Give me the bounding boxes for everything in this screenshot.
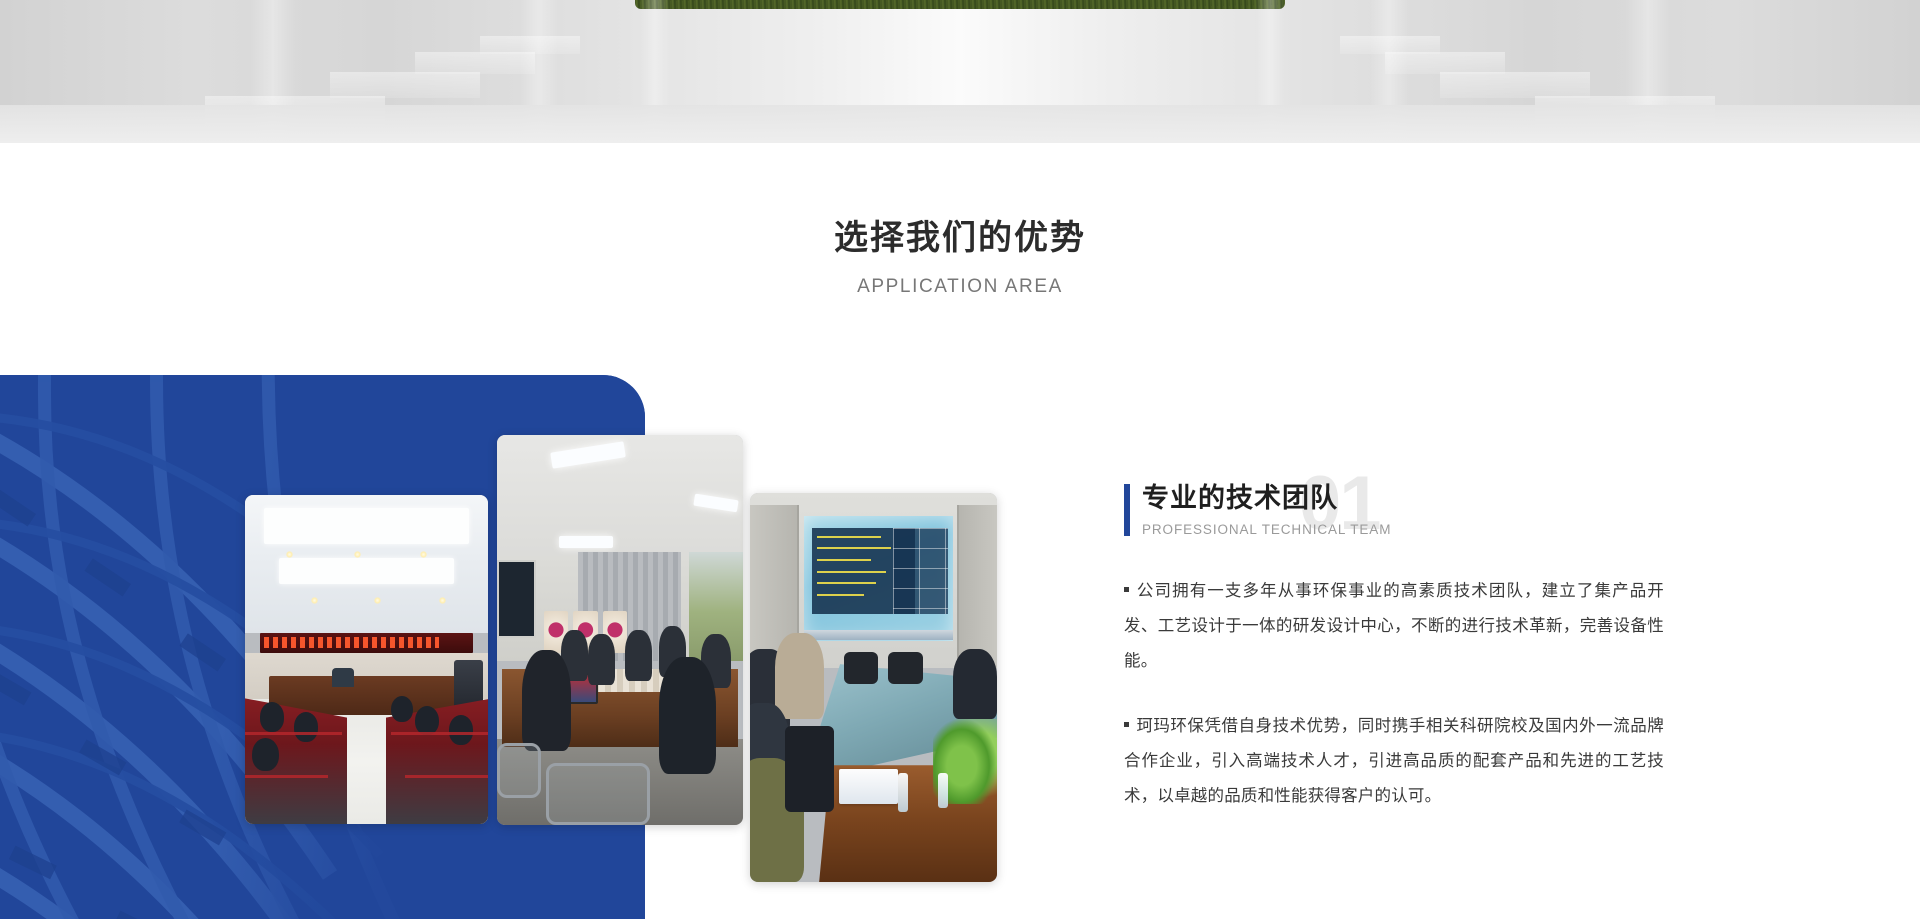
photo-cad-line <box>817 559 871 561</box>
feature-paragraph-text: 珂玛环保凭借自身技术优势，同时携手相关科研院校及国内外一流品牌合作企业，引入高端… <box>1124 717 1664 805</box>
bullet-dot-icon <box>1124 587 1129 592</box>
photo-presenter <box>953 649 997 719</box>
photo-audience-head <box>449 715 473 745</box>
hero-floor <box>0 105 1920 143</box>
photo-chair <box>497 743 541 798</box>
accent-bar <box>1124 484 1130 536</box>
photo-downlight <box>374 597 381 604</box>
photo-seat-trim <box>405 775 488 778</box>
photo-attendee <box>625 630 652 681</box>
photo-downlight <box>311 597 318 604</box>
page-title: 选择我们的优势 <box>0 218 1920 259</box>
feature-paragraph: 珂玛环保凭借自身技术优势，同时携手相关科研院校及国内外一流品牌合作企业，引入高端… <box>1124 709 1664 814</box>
photo-chair <box>546 763 649 825</box>
photo-led-banner-text <box>264 637 439 648</box>
photo-chair <box>844 652 879 683</box>
feature-headline-en: PROFESSIONAL TECHNICAL TEAM <box>1142 522 1664 537</box>
photo-documents <box>839 769 898 804</box>
feature-headline-zh: 专业的技术团队 <box>1142 482 1664 516</box>
photo-seat-trim <box>245 732 342 735</box>
photo-chair <box>785 726 834 812</box>
photo-ceiling-light <box>559 536 613 548</box>
photo-audience-head <box>260 702 284 732</box>
photo-water-bottle <box>938 773 948 808</box>
gallery-photo-auditorium[interactable] <box>245 495 488 824</box>
photo-skylight <box>279 558 454 584</box>
feature-paragraph: 公司拥有一支多年从事环保事业的高素质技术团队，建立了集产品开发、工艺设计于一体的… <box>1124 574 1664 679</box>
photo-downlight <box>420 551 427 558</box>
photo-cad-line <box>817 571 886 573</box>
hero-banner <box>0 0 1920 143</box>
hero-slab <box>330 72 480 98</box>
hero-slab <box>415 52 535 74</box>
photo-seat-trim <box>245 775 328 778</box>
photo-cad-line <box>817 547 891 549</box>
photo-audience-head <box>294 712 318 742</box>
photo-attendee <box>775 633 824 719</box>
photo-cad-line <box>817 594 864 596</box>
photo-skylight <box>264 508 468 544</box>
bullet-dot-icon <box>1124 722 1129 727</box>
photo-water-bottle <box>898 773 908 812</box>
feature-content: 01 专业的技术团队 PROFESSIONAL TECHNICAL TEAM 公… <box>1124 482 1664 814</box>
photo-seat-trim <box>391 732 488 735</box>
gallery-photo-presentation[interactable] <box>750 493 997 882</box>
photo-attendee-foreground <box>522 650 571 751</box>
photo-cad-table-grid <box>893 528 947 614</box>
page-root: 选择我们的优势 APPLICATION AREA <box>0 0 1920 919</box>
photo-audience-head <box>415 706 439 736</box>
green-grass-strip <box>635 0 1285 9</box>
photo-cad-line <box>817 582 876 584</box>
photo-attendee <box>588 634 615 685</box>
photo-cabinet <box>957 505 997 668</box>
feature-paragraph-text: 公司拥有一支多年从事环保事业的高素质技术团队，建立了集产品开发、工艺设计于一体的… <box>1124 582 1664 670</box>
photo-chair <box>888 652 923 683</box>
photo-audience-head <box>252 738 279 771</box>
photo-speaker <box>332 668 354 688</box>
photo-audience-head <box>391 696 413 722</box>
photo-attendee-foreground <box>659 657 716 774</box>
feature-headline-row: 01 专业的技术团队 PROFESSIONAL TECHNICAL TEAM <box>1124 482 1664 544</box>
photo-screen-taskbar <box>804 630 952 640</box>
photo-display-board <box>497 560 536 638</box>
page-subtitle: APPLICATION AREA <box>0 276 1920 298</box>
photo-cad-line <box>817 536 881 538</box>
gallery-photo-meeting-room[interactable] <box>497 435 743 825</box>
hero-slab <box>1440 72 1590 98</box>
section-header: 选择我们的优势 APPLICATION AREA <box>0 143 1920 298</box>
